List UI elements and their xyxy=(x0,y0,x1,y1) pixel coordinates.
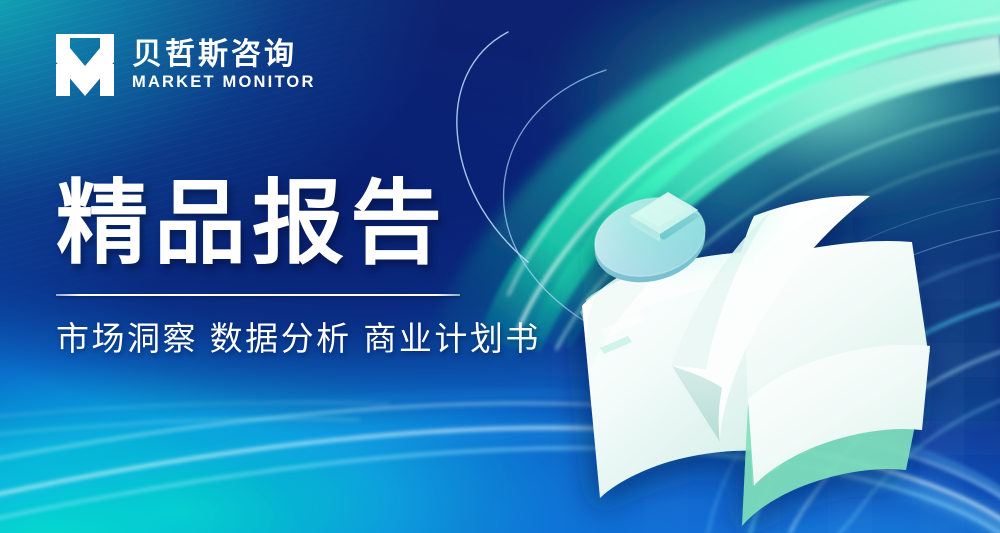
hero-text-block: 精品报告 市场洞察 数据分析 商业计划书 xyxy=(56,176,541,355)
hero-headline: 精品报告 xyxy=(56,176,541,274)
hero-divider xyxy=(56,294,460,296)
brand-lockup: 贝哲斯咨询 MARKET MONITOR xyxy=(54,32,316,98)
report-banner: 贝哲斯咨询 MARKET MONITOR 精品报告 市场洞察 数据分析 商业计划… xyxy=(0,0,1000,533)
brand-text-block: 贝哲斯咨询 MARKET MONITOR xyxy=(132,40,316,91)
hero-subhead: 市场洞察 数据分析 商业计划书 xyxy=(56,322,541,355)
brand-name-en: MARKET MONITOR xyxy=(132,74,316,91)
brand-name-cn: 贝哲斯咨询 xyxy=(132,40,316,70)
market-monitor-m-logo-icon xyxy=(54,32,116,98)
